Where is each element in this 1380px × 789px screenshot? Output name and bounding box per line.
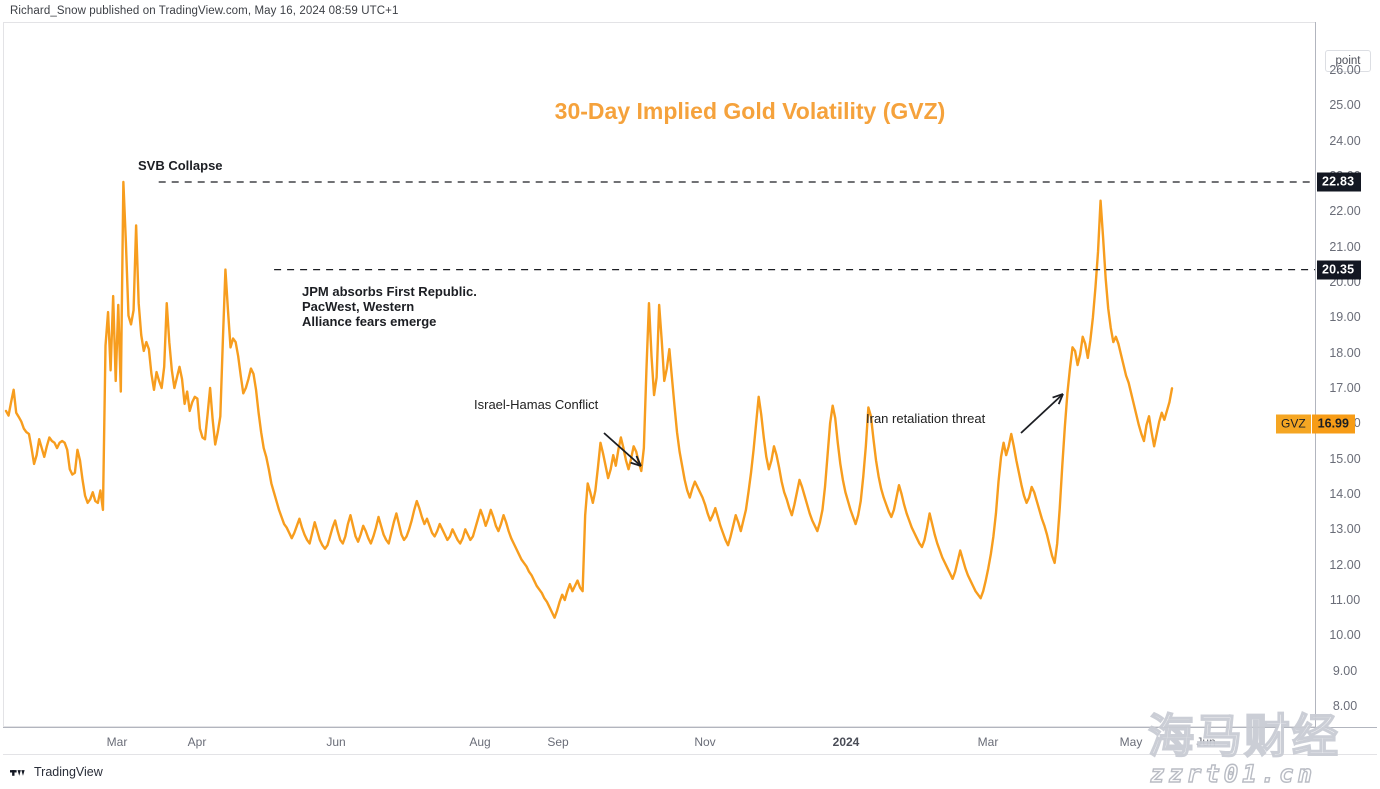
price-tick-15-00: 15.00 <box>1316 452 1374 466</box>
price-tick-19-00: 19.00 <box>1316 310 1374 324</box>
price-tick-9-00: 9.00 <box>1316 664 1374 678</box>
price-tick-22-00: 22.00 <box>1316 204 1374 218</box>
price-tick-24-00: 24.00 <box>1316 134 1374 148</box>
price-tick-11-00: 11.00 <box>1316 593 1374 607</box>
price-tick-26-00: 26.00 <box>1316 63 1374 77</box>
tradingview-brand-name: TradingView <box>34 765 103 779</box>
israel-hamas-annotation: Israel-Hamas Conflict <box>474 397 598 412</box>
price-tick-14-00: 14.00 <box>1316 487 1374 501</box>
price-tick-25-00: 25.00 <box>1316 98 1374 112</box>
time-tick-jun-2: Jun <box>326 735 345 749</box>
price-axis[interactable]: point 26.0025.0024.0023.0022.0021.0020.0… <box>1315 22 1377 727</box>
time-tick-apr-1: Apr <box>188 735 207 749</box>
jpm-first-republic-annotation: JPM absorbs First Republic. PacWest, Wes… <box>302 284 477 329</box>
chart-title: 30-Day Implied Gold Volatility (GVZ) <box>500 98 1000 125</box>
time-tick-2024-6: 2024 <box>833 735 860 749</box>
time-tick-nov-5: Nov <box>694 735 715 749</box>
svb-collapse-annotation: SVB Collapse <box>138 158 223 173</box>
tradingview-footer: TradingView <box>10 765 103 779</box>
price-tick-17-00: 17.00 <box>1316 381 1374 395</box>
iran-retaliation-arrow <box>1021 394 1063 433</box>
publisher-credit: Richard_Snow published on TradingView.co… <box>10 5 398 17</box>
time-tick-sep-4: Sep <box>547 735 568 749</box>
price-tick-18-00: 18.00 <box>1316 346 1374 360</box>
time-tick-aug-3: Aug <box>469 735 490 749</box>
last-price-value: 16.99 <box>1312 415 1355 434</box>
symbol-tag: GVZ <box>1276 415 1311 434</box>
watermark-url: zzrt01.cn <box>1150 760 1316 788</box>
last-price-badge[interactable]: GVZ 16.99 <box>1276 415 1355 434</box>
time-tick-mar-7: Mar <box>978 735 999 749</box>
price-tick-10-00: 10.00 <box>1316 628 1374 642</box>
watermark-chinese: 海马财经 <box>1148 700 1340 766</box>
time-tick-mar-0: Mar <box>107 735 128 749</box>
tradingview-logo-icon <box>10 766 27 778</box>
chart-plot-area <box>4 23 1315 726</box>
gvz-line-chart <box>4 23 1315 726</box>
iran-retaliation-annotation: Iran retaliation threat <box>866 411 985 426</box>
screenshot-root: Richard_Snow published on TradingView.co… <box>0 0 1380 789</box>
price-tick-21-00: 21.00 <box>1316 240 1374 254</box>
price-tick-12-00: 12.00 <box>1316 558 1374 572</box>
time-tick-may-8: May <box>1120 735 1143 749</box>
price-tick-13-00: 13.00 <box>1316 522 1374 536</box>
svb-high-price-badge: 22.83 <box>1317 173 1361 192</box>
jpm-high-price-badge: 20.35 <box>1317 260 1361 279</box>
